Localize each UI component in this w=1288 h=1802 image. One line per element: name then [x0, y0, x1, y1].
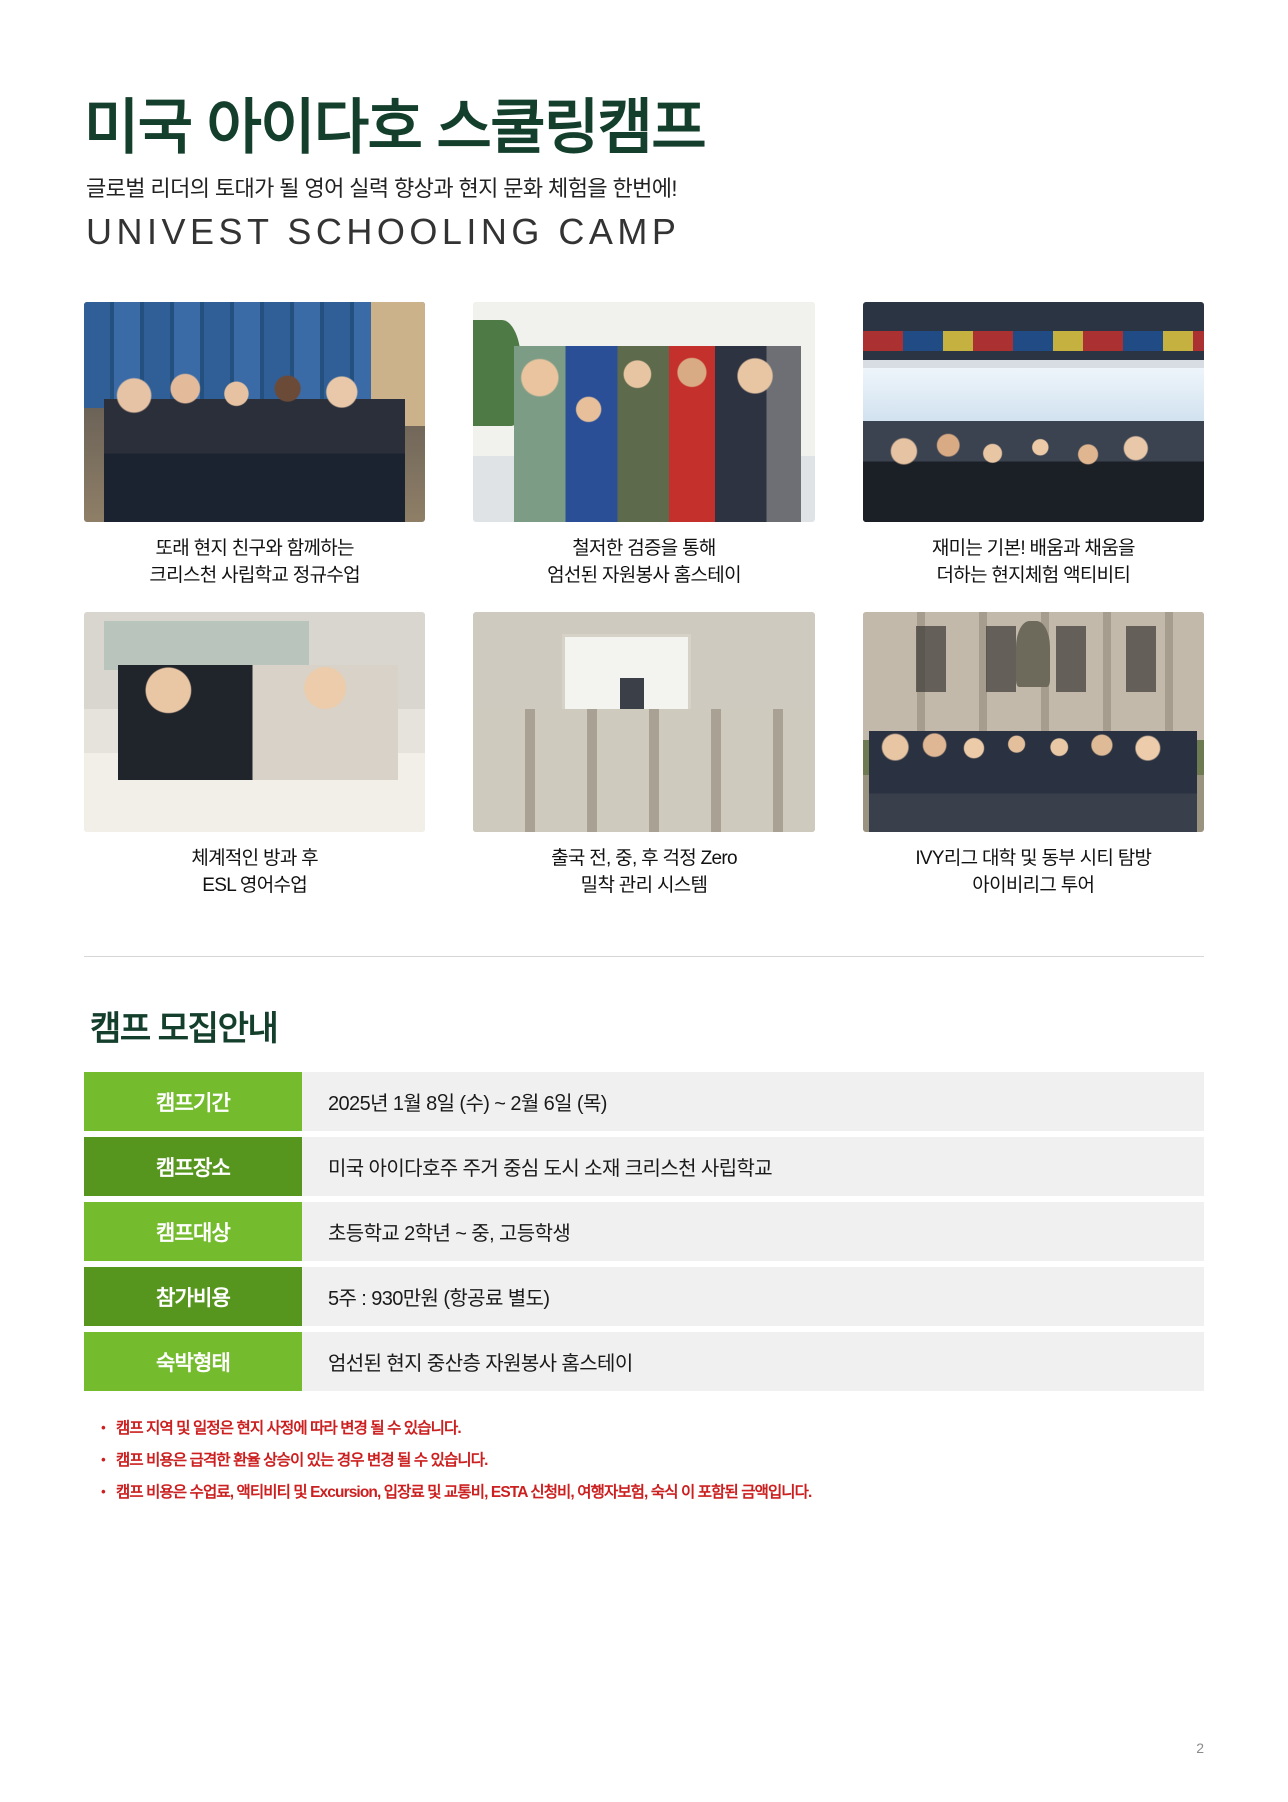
row-value-camp-period: 2025년 1월 8일 (수) ~ 2월 6일 (목)	[302, 1072, 1204, 1131]
management-system-photo	[473, 612, 814, 832]
table-row: 캠프기간 2025년 1월 8일 (수) ~ 2월 6일 (목)	[84, 1072, 1204, 1131]
row-label-camp-target: 캠프대상	[84, 1202, 302, 1261]
note-text: 캠프 비용은 급격한 환율 상승이 있는 경우 변경 될 수 있습니다.	[116, 1445, 487, 1477]
note-item: • 캠프 비용은 수업료, 액티비티 및 Excursion, 입장료 및 교통…	[90, 1477, 1204, 1509]
school-classmates-photo	[84, 302, 425, 522]
esl-tutoring-photo	[84, 612, 425, 832]
row-label-camp-fee: 참가비용	[84, 1267, 302, 1326]
note-text: 캠프 비용은 수업료, 액티비티 및 Excursion, 입장료 및 교통비,…	[116, 1477, 811, 1509]
bullet-icon: •	[90, 1477, 116, 1507]
brochure-page: 미국 아이다호 스쿨링캠프 글로벌 리더의 토대가 될 영어 실력 향상과 현지…	[0, 0, 1288, 1802]
photo-cell: 체계적인 방과 후 ESL 영어수업	[84, 612, 425, 900]
row-label-camp-period: 캠프기간	[84, 1072, 302, 1131]
notes-list: • 캠프 지역 및 일정은 현지 사정에 따라 변경 될 수 있습니다. • 캠…	[84, 1413, 1204, 1508]
table-row: 캠프대상 초등학교 2학년 ~ 중, 고등학생	[84, 1202, 1204, 1261]
note-item: • 캠프 지역 및 일정은 현지 사정에 따라 변경 될 수 있습니다.	[90, 1413, 1204, 1445]
note-item: • 캠프 비용은 급격한 환율 상승이 있는 경우 변경 될 수 있습니다.	[90, 1445, 1204, 1477]
row-value-camp-location: 미국 아이다호주 주거 중심 도시 소재 크리스천 사립학교	[302, 1137, 1204, 1196]
section-divider	[84, 956, 1204, 957]
row-label-accommodation: 숙박형태	[84, 1332, 302, 1391]
row-label-camp-location: 캠프장소	[84, 1137, 302, 1196]
photo-cell: 출국 전, 중, 후 걱정 Zero 밀착 관리 시스템	[473, 612, 814, 900]
homestay-family-photo	[473, 302, 814, 522]
photo-grid: 또래 현지 친구와 함께하는 크리스천 사립학교 정규수업 철저한 검증을 통해…	[84, 302, 1204, 900]
page-title: 미국 아이다호 스쿨링캠프	[84, 96, 1204, 161]
table-row: 숙박형태 엄선된 현지 중산층 자원봉사 홈스테이	[84, 1332, 1204, 1391]
camp-info-table: 캠프기간 2025년 1월 8일 (수) ~ 2월 6일 (목) 캠프장소 미국…	[84, 1072, 1204, 1391]
photo-caption: IVY리그 대학 및 동부 시티 탐방 아이비리그 투어	[863, 846, 1204, 900]
row-value-accommodation: 엄선된 현지 중산층 자원봉사 홈스테이	[302, 1332, 1204, 1391]
photo-cell: 재미는 기본! 배움과 채움을 더하는 현지체험 액티비티	[863, 302, 1204, 590]
page-english-title: UNIVEST SCHOOLING CAMP	[86, 209, 1204, 254]
hockey-activity-photo	[863, 302, 1204, 522]
row-value-camp-fee: 5주 : 930만원 (항공료 별도)	[302, 1267, 1204, 1326]
photo-caption: 또래 현지 친구와 함께하는 크리스천 사립학교 정규수업	[84, 536, 425, 590]
section-title: 캠프 모집안내	[90, 1001, 1204, 1050]
photo-caption: 출국 전, 중, 후 걱정 Zero 밀착 관리 시스템	[473, 846, 814, 900]
bullet-icon: •	[90, 1413, 116, 1443]
photo-caption: 재미는 기본! 배움과 채움을 더하는 현지체험 액티비티	[863, 536, 1204, 590]
table-row: 캠프장소 미국 아이다호주 주거 중심 도시 소재 크리스천 사립학교	[84, 1137, 1204, 1196]
table-row: 참가비용 5주 : 930만원 (항공료 별도)	[84, 1267, 1204, 1326]
photo-cell: IVY리그 대학 및 동부 시티 탐방 아이비리그 투어	[863, 612, 1204, 900]
bullet-icon: •	[90, 1445, 116, 1475]
row-value-camp-target: 초등학교 2학년 ~ 중, 고등학생	[302, 1202, 1204, 1261]
page-number: 2	[1196, 1740, 1204, 1756]
note-text: 캠프 지역 및 일정은 현지 사정에 따라 변경 될 수 있습니다.	[116, 1413, 461, 1445]
page-header: 미국 아이다호 스쿨링캠프 글로벌 리더의 토대가 될 영어 실력 향상과 현지…	[84, 0, 1204, 254]
page-subtitle: 글로벌 리더의 토대가 될 영어 실력 향상과 현지 문화 체험을 한번에!	[86, 175, 1204, 204]
photo-caption: 체계적인 방과 후 ESL 영어수업	[84, 846, 425, 900]
photo-caption: 철저한 검증을 통해 엄선된 자원봉사 홈스테이	[473, 536, 814, 590]
ivy-league-tour-photo	[863, 612, 1204, 832]
photo-cell: 철저한 검증을 통해 엄선된 자원봉사 홈스테이	[473, 302, 814, 590]
photo-cell: 또래 현지 친구와 함께하는 크리스천 사립학교 정규수업	[84, 302, 425, 590]
